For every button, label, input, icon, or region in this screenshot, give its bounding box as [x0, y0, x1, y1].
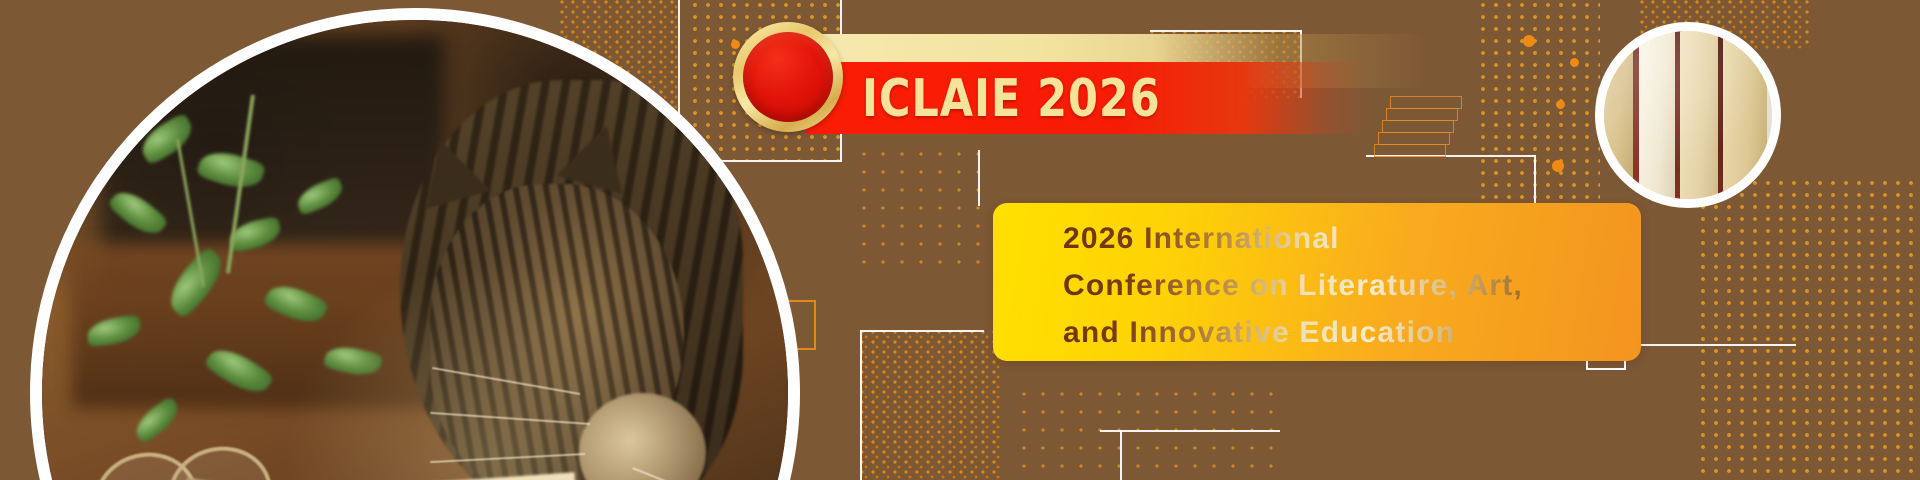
stack-outline — [1382, 120, 1454, 133]
conference-banner: ICLAIE 2026 2026 International Conferenc… — [0, 0, 1920, 480]
dot-pattern-block — [860, 150, 980, 270]
accent-line — [1120, 430, 1122, 480]
accent-line — [978, 150, 980, 206]
accent-dot — [1552, 160, 1564, 172]
title-line-1: 2026 International — [1063, 215, 1663, 262]
red-seal-inner — [743, 32, 833, 122]
dot-pattern-block — [1700, 180, 1920, 480]
stack-outline — [1374, 144, 1446, 157]
eyeglasses — [94, 445, 244, 480]
accent-dot — [1556, 100, 1565, 109]
stack-outline — [1390, 96, 1462, 109]
accent-line — [1366, 155, 1536, 157]
title-line-2: Conference on Literature, Art, — [1063, 262, 1663, 309]
dot-pattern-block — [860, 330, 1000, 480]
accent-dot — [1570, 58, 1579, 67]
stack-outline — [1378, 132, 1450, 145]
title-line-3: and Innovative Education — [1063, 309, 1663, 356]
dot-pattern-block — [1020, 390, 1280, 480]
accent-line — [1150, 30, 1302, 32]
accent-line — [860, 330, 984, 332]
acronym-label: ICLAIE 2026 — [862, 68, 1161, 130]
stack-outline — [1386, 108, 1458, 121]
conference-title: 2026 International Conference on Literat… — [1063, 215, 1663, 356]
accent-line — [860, 330, 862, 480]
cat-reading-photo — [30, 8, 800, 480]
accent-line — [1100, 430, 1280, 432]
accent-dot — [1523, 35, 1535, 47]
red-seal-badge — [733, 22, 843, 132]
books-photo — [1595, 22, 1781, 208]
